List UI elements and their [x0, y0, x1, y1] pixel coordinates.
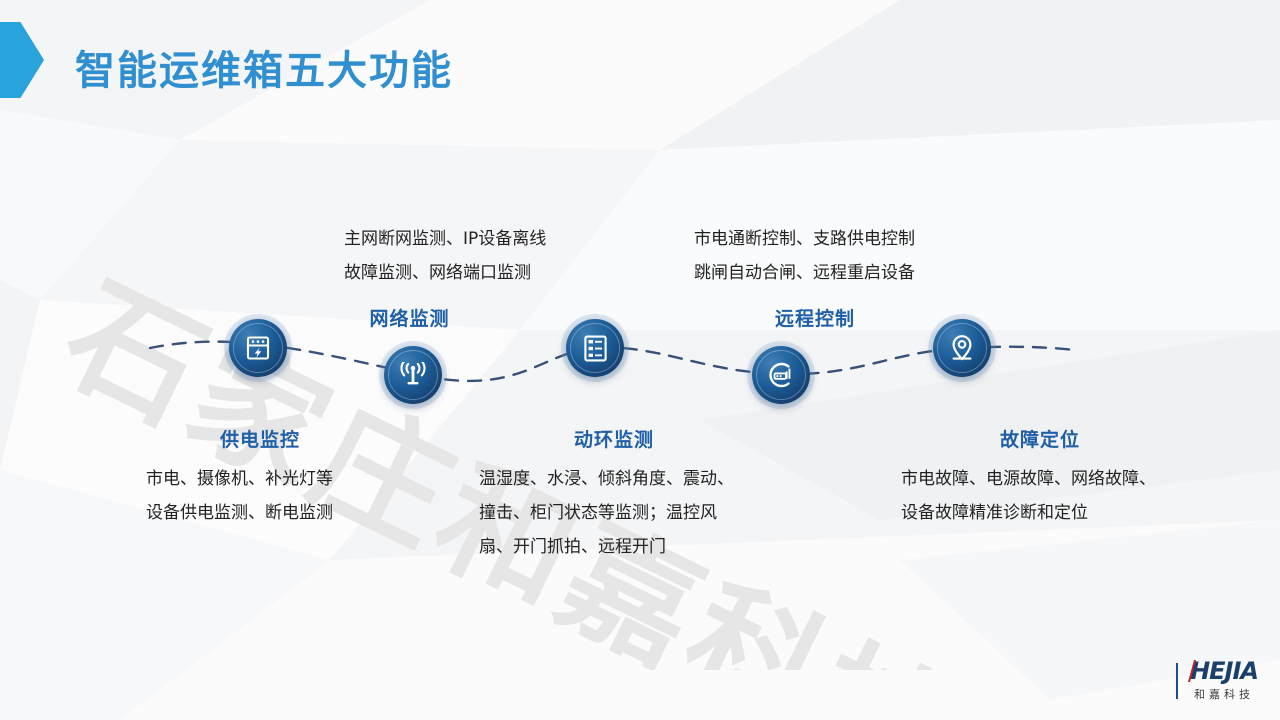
company-logo: HEJIA 和嘉科技 — [1176, 659, 1258, 702]
power-cabinet-icon — [245, 335, 271, 361]
logo-divider — [1176, 663, 1178, 699]
block-power-body: 市电、摄像机、补光灯等 设备供电监测、断电监测 — [146, 462, 374, 530]
node-environment-monitor[interactable] — [566, 319, 624, 377]
wifi-tower-icon — [398, 362, 428, 388]
five-function-diagram — [0, 0, 1280, 720]
block-environment: 动环监测 温湿度、水浸、倾斜角度、震动、 撞击、柜门状态等监测；温控风 扇、开门… — [479, 425, 749, 564]
block-environment-body: 温湿度、水浸、倾斜角度、震动、 撞击、柜门状态等监测；温控风 扇、开门抓拍、远程… — [479, 462, 749, 564]
block-fault-body: 市电故障、电源故障、网络故障、 设备故障精准诊断和定位 — [901, 462, 1179, 530]
block-power: 供电监控 市电、摄像机、补光灯等 设备供电监测、断电监测 — [146, 425, 374, 530]
page-title: 智能运维箱五大功能 — [75, 38, 453, 96]
node-power-cabinet[interactable] — [229, 319, 287, 377]
block-network-title: 网络监测 — [322, 304, 497, 331]
block-fault: 故障定位 市电故障、电源故障、网络故障、 设备故障精准诊断和定位 — [901, 425, 1179, 530]
block-environment-title: 动环监测 — [479, 425, 749, 452]
block-remote-title: 远程控制 — [685, 304, 945, 331]
logo-accent-swoosh-icon — [1188, 660, 1196, 682]
router-signal-icon — [766, 361, 796, 389]
logo-wordmark: HEJIA — [1190, 659, 1258, 683]
block-remote-body: 市电通断控制、支路供电控制 跳闸自动合闸、远程重启设备 — [694, 222, 945, 290]
location-pin-icon — [949, 334, 975, 362]
connector-wave — [0, 0, 1280, 720]
block-network: 主网断网监测、IP设备离线 故障监测、网络端口监测 网络监测 — [344, 222, 546, 331]
block-remote: 市电通断控制、支路供电控制 跳闸自动合闸、远程重启设备 远程控制 — [694, 222, 945, 331]
block-fault-title: 故障定位 — [901, 425, 1179, 452]
block-network-body: 主网断网监测、IP设备离线 故障监测、网络端口监测 — [344, 222, 546, 290]
block-power-title: 供电监控 — [146, 425, 374, 452]
node-network-monitor[interactable] — [384, 346, 442, 404]
node-remote-control[interactable] — [752, 346, 810, 404]
server-rack-icon — [583, 335, 608, 362]
logo-subtext: 和嘉科技 — [1194, 686, 1254, 702]
